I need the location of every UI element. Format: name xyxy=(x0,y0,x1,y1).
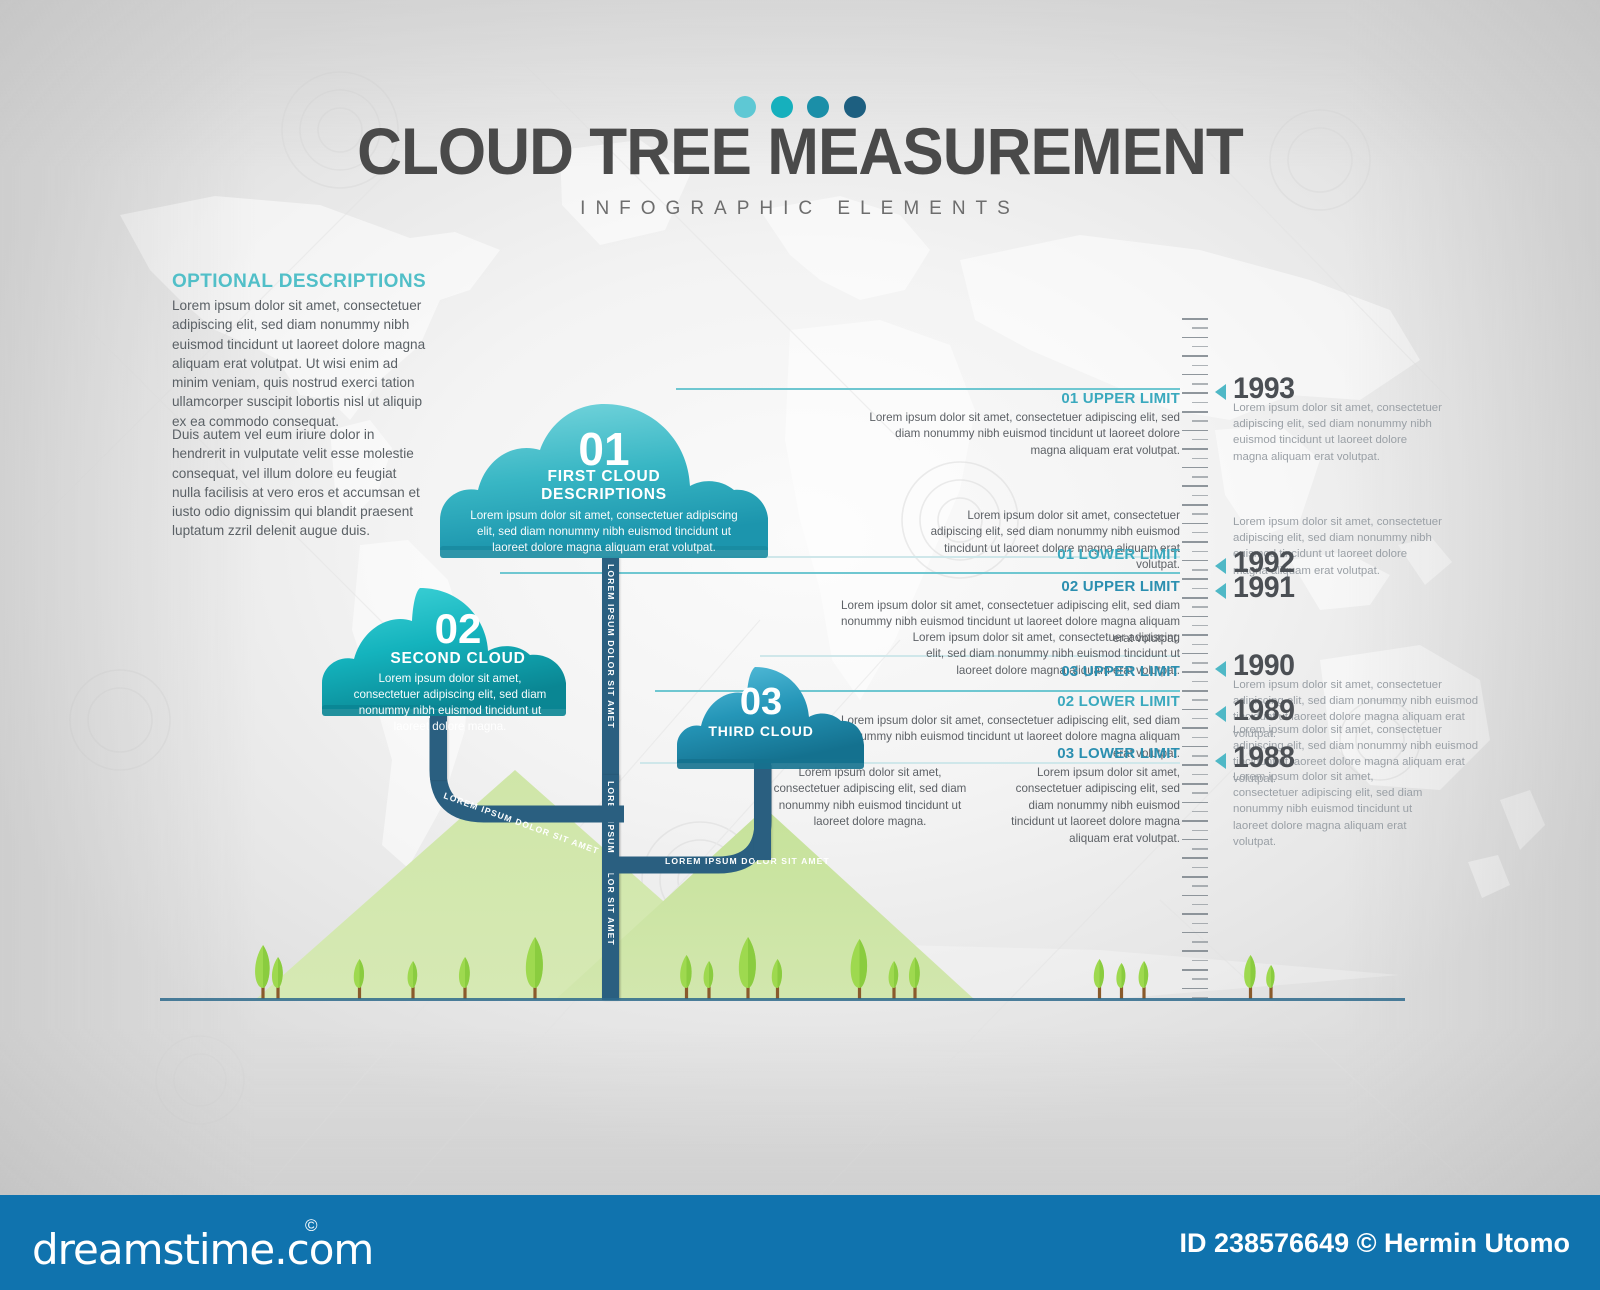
cloud-02-number: 02 xyxy=(316,605,600,653)
limit-label-02-lower: 02 LOWER LIMIT xyxy=(880,693,1180,710)
ruler-tick xyxy=(1182,820,1208,822)
ruler-tick xyxy=(1182,690,1208,692)
ruler-tick xyxy=(1182,857,1208,859)
infographic-canvas: CLOUD TREE MEASUREMENT INFOGRAPHIC ELEME… xyxy=(0,0,1600,1290)
ruler-tick xyxy=(1182,578,1208,580)
ruler-tick xyxy=(1182,448,1208,450)
page-subtitle: INFOGRAPHIC ELEMENTS xyxy=(0,198,1600,220)
ruler-tick xyxy=(1182,932,1208,934)
limit-label-03-lower: 03 LOWER LIMIT xyxy=(880,745,1180,762)
ruler-tick xyxy=(1192,662,1208,664)
ruler-tick xyxy=(1182,895,1208,897)
timeline-arrow-icon xyxy=(1215,558,1226,574)
ruler-tick xyxy=(1192,606,1208,608)
ruler-tick xyxy=(1182,355,1208,357)
ruler-tick xyxy=(1192,923,1208,925)
ruler-tick xyxy=(1192,346,1208,348)
ruler-tick xyxy=(1192,941,1208,943)
ruler-tick xyxy=(1192,551,1208,553)
ruler-tick xyxy=(1192,383,1208,385)
ruler-tick xyxy=(1182,337,1208,339)
ruler-tick xyxy=(1182,839,1208,841)
timeline-arrow-icon xyxy=(1215,384,1226,400)
cloud-03[interactable]: 03 THIRD CLOUD xyxy=(667,663,867,779)
ruler-tick xyxy=(1192,458,1208,460)
ruler-tick xyxy=(1182,671,1208,673)
ruler-tick xyxy=(1182,653,1208,655)
cloud-03-number: 03 xyxy=(661,681,861,724)
ruler-tick xyxy=(1192,774,1208,776)
cloud-02-title: SECOND CLOUD xyxy=(316,650,600,669)
ruler-tick xyxy=(1182,616,1208,618)
ground-line xyxy=(160,998,1405,1001)
ruler-tick xyxy=(1182,504,1208,506)
trunk-ribbon-main-label: LOREM IPSUM DOLOR SIT AMET xyxy=(606,564,616,729)
ruler-tick xyxy=(1192,644,1208,646)
ruler-tick xyxy=(1192,588,1208,590)
ruler-tick xyxy=(1192,513,1208,515)
ruler-tick xyxy=(1182,485,1208,487)
timeline-arrow-icon xyxy=(1215,706,1226,722)
limit-body-01-lower: Lorem ipsum dolor sit amet, consectetuer… xyxy=(930,508,1180,574)
limit-body-03-lower: Lorem ipsum dolor sit amet, consectetuer… xyxy=(990,765,1180,847)
cloud-02-body: Lorem ipsum dolor sit amet, consectetuer… xyxy=(308,671,592,735)
measurement-ruler xyxy=(1180,318,1208,1008)
ruler-tick xyxy=(1182,467,1208,469)
ruler-tick xyxy=(1182,430,1208,432)
ruler-tick xyxy=(1182,746,1208,748)
optional-paragraph-1: Lorem ipsum dolor sit amet, consectetuer… xyxy=(172,296,428,431)
ruler-tick xyxy=(1182,709,1208,711)
ruler-tick xyxy=(1182,969,1208,971)
limit-label-02-upper: 02 UPPER LIMIT xyxy=(880,578,1180,595)
ruler-tick xyxy=(1182,374,1208,376)
cloud-03-title: THIRD CLOUD xyxy=(661,723,861,740)
timeline-arrow-icon xyxy=(1215,583,1226,599)
tree-icon xyxy=(845,938,874,1005)
ruler-tick xyxy=(1192,792,1208,794)
ruler-tick xyxy=(1192,495,1208,497)
ruler-tick xyxy=(1182,988,1208,990)
ruler-tick xyxy=(1182,913,1208,915)
ruler-tick xyxy=(1182,950,1208,952)
registered-mark-icon: © xyxy=(305,1216,318,1236)
ruler-tick xyxy=(1192,885,1208,887)
page-title: CLOUD TREE MEASUREMENT xyxy=(48,117,1552,186)
ruler-tick xyxy=(1192,848,1208,850)
timeline-year-1991: 1991 xyxy=(1233,571,1295,605)
ruler-tick xyxy=(1192,830,1208,832)
tree-icon xyxy=(520,936,550,1005)
ruler-tick xyxy=(1182,560,1208,562)
ruler-tick xyxy=(1192,439,1208,441)
optional-paragraph-2: Duis autem vel eum iriure dolor in hendr… xyxy=(172,425,428,541)
ruler-tick xyxy=(1192,811,1208,813)
ruler-tick xyxy=(1182,318,1208,320)
ruler-tick xyxy=(1182,727,1208,729)
ruler-tick xyxy=(1182,411,1208,413)
image-credit: ID 238576649 © Hermin Utomo xyxy=(1179,1228,1570,1259)
ruler-tick xyxy=(1192,402,1208,404)
ruler-tick xyxy=(1192,737,1208,739)
ruler-tick xyxy=(1182,523,1208,525)
ruler-tick xyxy=(1192,420,1208,422)
tree-icon xyxy=(733,936,763,1005)
dreamstime-logo[interactable]: dreamstime.com xyxy=(32,1225,373,1274)
cloud-01-title-line1: FIRST CLOUD xyxy=(420,468,788,487)
ruler-tick xyxy=(1182,802,1208,804)
cloud-01-body: Lorem ipsum dolor sit amet, consectetuer… xyxy=(420,508,788,556)
timeline-body-1988: Lorem ipsum dolor sit amet, consectetuer… xyxy=(1233,769,1438,850)
cloud-02[interactable]: 02 SECOND CLOUD Lorem ipsum dolor sit am… xyxy=(308,583,592,723)
ruler-tick xyxy=(1182,764,1208,766)
ruler-tick xyxy=(1192,476,1208,478)
ruler-tick xyxy=(1182,597,1208,599)
ruler-tick xyxy=(1192,904,1208,906)
ruler-tick xyxy=(1192,625,1208,627)
ruler-tick xyxy=(1182,783,1208,785)
ruler-tick xyxy=(1192,569,1208,571)
limit-body-01-upper: Lorem ipsum dolor sit amet, consectetuer… xyxy=(860,410,1180,459)
ruler-tick xyxy=(1192,718,1208,720)
ruler-tick xyxy=(1192,960,1208,962)
ruler-tick xyxy=(1192,681,1208,683)
ruler-tick xyxy=(1182,876,1208,878)
ruler-tick xyxy=(1182,634,1208,636)
ruler-tick xyxy=(1192,867,1208,869)
timeline-arrow-icon xyxy=(1215,661,1226,677)
ruler-tick xyxy=(1192,327,1208,329)
ruler-tick xyxy=(1192,978,1208,980)
optional-descriptions-heading: OPTIONAL DESCRIPTIONS xyxy=(172,271,426,293)
limit-label-03-upper: 03 UPPER LIMIT xyxy=(880,663,1180,680)
limit-label-01-upper: 01 UPPER LIMIT xyxy=(880,390,1180,407)
cloud-01[interactable]: 01 FIRST CLOUD DESCRIPTIONS Lorem ipsum … xyxy=(420,398,788,566)
ruler-tick xyxy=(1192,532,1208,534)
timeline-body-1993: Lorem ipsum dolor sit amet, consectetuer… xyxy=(1233,400,1443,465)
cloud-01-title-line2: DESCRIPTIONS xyxy=(420,486,788,505)
ruler-tick xyxy=(1182,392,1208,394)
branch-ribbon-03-label: LOREM IPSUM DOLOR SIT AMET xyxy=(665,856,830,866)
ruler-tick xyxy=(1192,699,1208,701)
ruler-tick xyxy=(1192,755,1208,757)
timeline-arrow-icon xyxy=(1215,753,1226,769)
ruler-tick xyxy=(1192,365,1208,367)
ruler-tick xyxy=(1182,541,1208,543)
limit-label-01-lower: 01 LOWER LIMIT xyxy=(880,546,1180,563)
